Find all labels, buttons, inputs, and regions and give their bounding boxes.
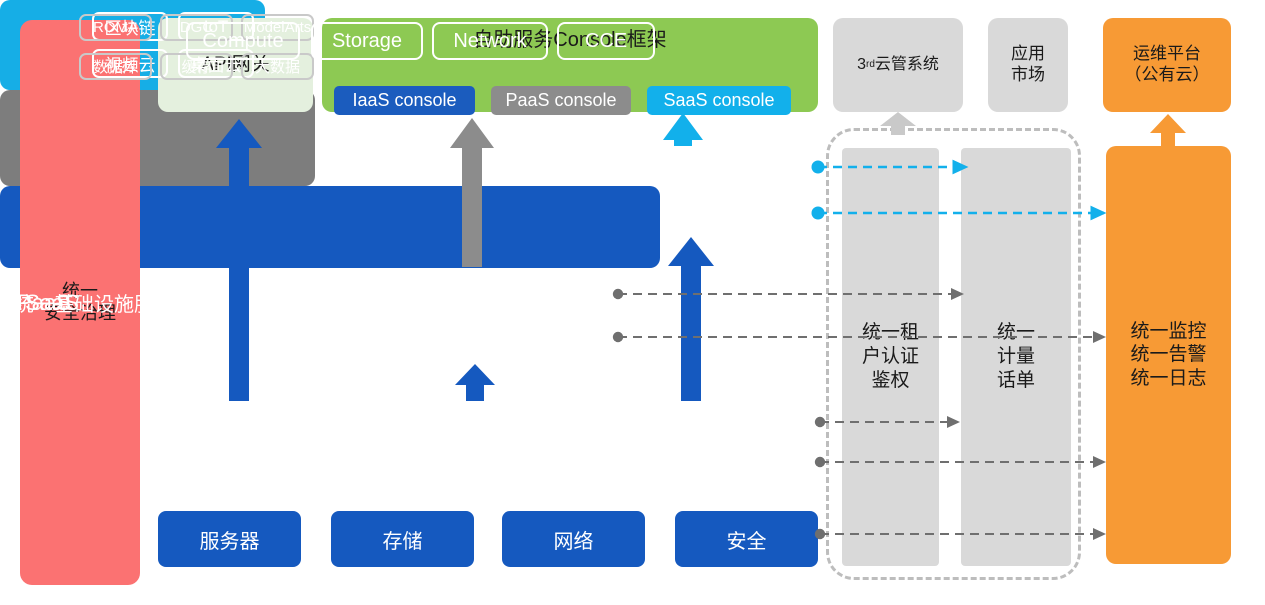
app-market-box: 应用 市场 [988, 18, 1068, 112]
shared-service-tenant-auth-column: 统一租 户认证 鉴权 [842, 148, 939, 566]
paas-console-chip[interactable]: PaaS console [491, 86, 631, 115]
architecture-diagram-canvas: 统一 安全治理 API网关 自助服务Console框架 IaaS console… [0, 0, 1265, 605]
hardware-box-network: 网络 [502, 511, 645, 567]
third-party-cms-suffix: 云管系统 [875, 55, 939, 75]
third-party-cloud-management-box: 3rd云管系统 [833, 18, 963, 112]
infra-chip-compute[interactable]: Compute [186, 22, 300, 60]
third-party-cms-prefix: 3 [857, 55, 866, 75]
unified-infrastructure-label: 统一基础设施服务 [14, 0, 174, 605]
hardware-box-storage: 存储 [331, 511, 474, 567]
ops-platform-box: 运维平台 （公有云） [1103, 18, 1231, 112]
infra-chip-network[interactable]: Network [432, 22, 548, 60]
third-party-cms-ordinal: rd [866, 59, 875, 71]
shared-service-metering-billing-column: 统一 计量 话单 [961, 148, 1071, 566]
infra-chip-cce[interactable]: CCE [557, 22, 655, 60]
saas-console-chip[interactable]: SaaS console [647, 86, 791, 115]
unified-infrastructure-block: 统一基础设施服务 Compute Storage Network CCE [0, 186, 660, 268]
hardware-box-security: 安全 [675, 511, 818, 567]
arrow-saas-to-console [663, 113, 703, 146]
unified-monitoring-column: 统一监控 统一告警 统一日志 [1106, 146, 1231, 564]
infra-chip-storage[interactable]: Storage [311, 22, 423, 60]
hardware-box-server: 服务器 [158, 511, 301, 567]
arrow-monitoring-to-ops-platform [1150, 114, 1186, 146]
arrow-infra-to-paas [455, 364, 495, 401]
arrow-infra-to-saas [668, 237, 714, 401]
iaas-console-chip[interactable]: IaaS console [334, 86, 475, 115]
